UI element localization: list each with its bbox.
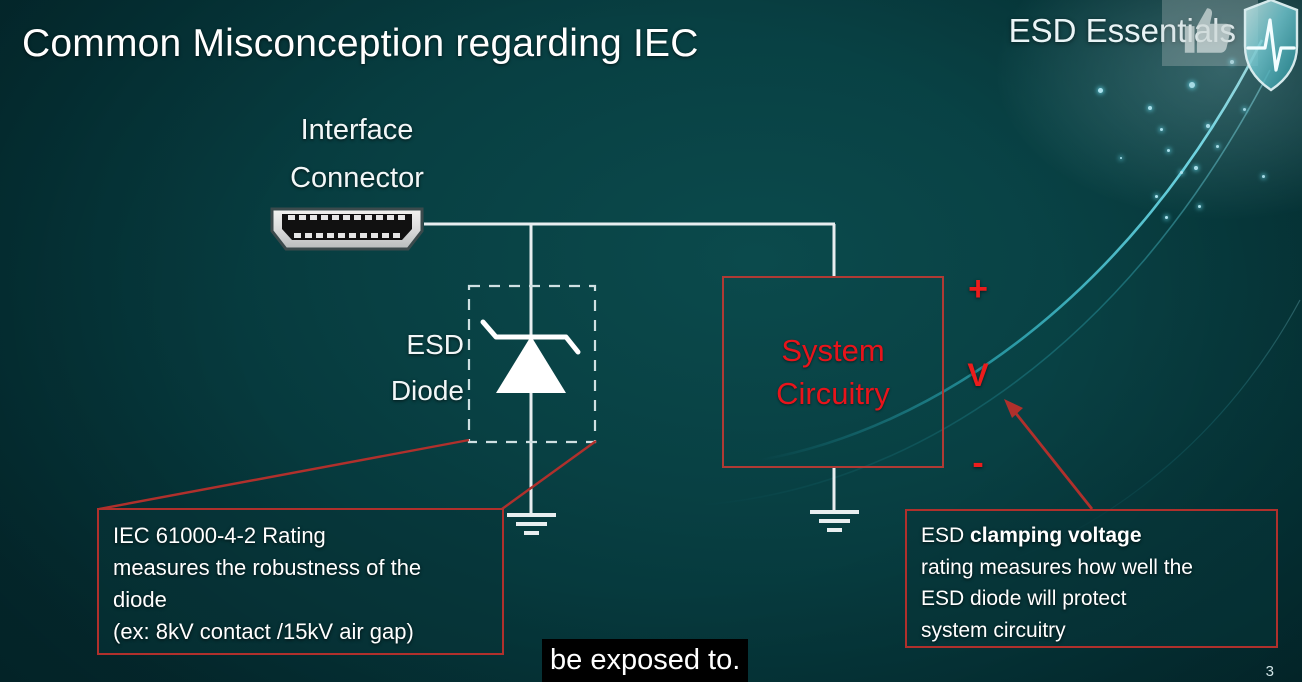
particle: [1206, 124, 1210, 128]
interface-label-line1: Interface: [282, 106, 432, 154]
esd-diode-label-line2: Diode: [330, 368, 464, 414]
particle: [1165, 216, 1168, 219]
callout-left-line1: IEC 61000-4-2 Rating: [113, 520, 502, 552]
system-circuitry-line1: System: [781, 329, 884, 372]
callout-right-line4: system circuitry: [921, 615, 1276, 647]
esd-diode-label-line1: ESD: [330, 322, 464, 368]
particle: [1120, 157, 1122, 159]
particle: [1160, 128, 1163, 131]
particle: [1262, 175, 1265, 178]
esd-diode-label: ESD Diode: [330, 322, 464, 414]
particle: [1216, 145, 1219, 148]
interface-connector-label: Interface Connector: [282, 106, 432, 202]
particle: [1098, 88, 1103, 93]
voltage-marker-v: V: [958, 357, 998, 394]
callout-left-line4: (ex: 8kV contact /15kV air gap): [113, 616, 502, 648]
particle: [1243, 108, 1246, 111]
voltage-marker-minus: -: [958, 444, 998, 483]
particle: [1148, 106, 1152, 110]
particle: [1230, 60, 1234, 64]
callout-left-line3: diode: [113, 584, 502, 616]
callout-right-line1: ESD clamping voltage: [921, 520, 1276, 552]
callout-iec-rating: IEC 61000-4-2 Rating measures the robust…: [97, 508, 504, 655]
particle: [1194, 166, 1198, 170]
system-circuitry-line2: Circuitry: [776, 372, 890, 415]
page-title: Common Misconception regarding IEC: [22, 22, 699, 66]
callout-right-line1-bold: clamping voltage: [970, 524, 1142, 547]
interface-connector-icon: [268, 205, 426, 253]
callout-left-line2: measures the robustness of the: [113, 552, 502, 584]
callout-right-line1-prefix: ESD: [921, 524, 970, 547]
interface-label-line2: Connector: [282, 154, 432, 202]
slide-canvas: Common Misconception regarding IEC ESD E…: [0, 0, 1302, 682]
particle: [1180, 171, 1183, 174]
callout-clamping-voltage: ESD clamping voltage rating measures how…: [905, 509, 1278, 648]
particle: [1189, 82, 1195, 88]
shield-pulse-logo: [1242, 0, 1300, 94]
callout-right-line2: rating measures how well the: [921, 552, 1276, 584]
page-number: 3: [1266, 663, 1274, 680]
video-caption: be exposed to.: [542, 639, 748, 682]
particle: [1167, 149, 1170, 152]
voltage-marker-plus: +: [958, 270, 998, 309]
brand-title: ESD Essentials: [1009, 12, 1236, 50]
particle: [1198, 205, 1201, 208]
system-circuitry-box: System Circuitry: [722, 276, 944, 468]
callout-right-line3: ESD diode will protect: [921, 583, 1276, 615]
particle: [1155, 195, 1158, 198]
